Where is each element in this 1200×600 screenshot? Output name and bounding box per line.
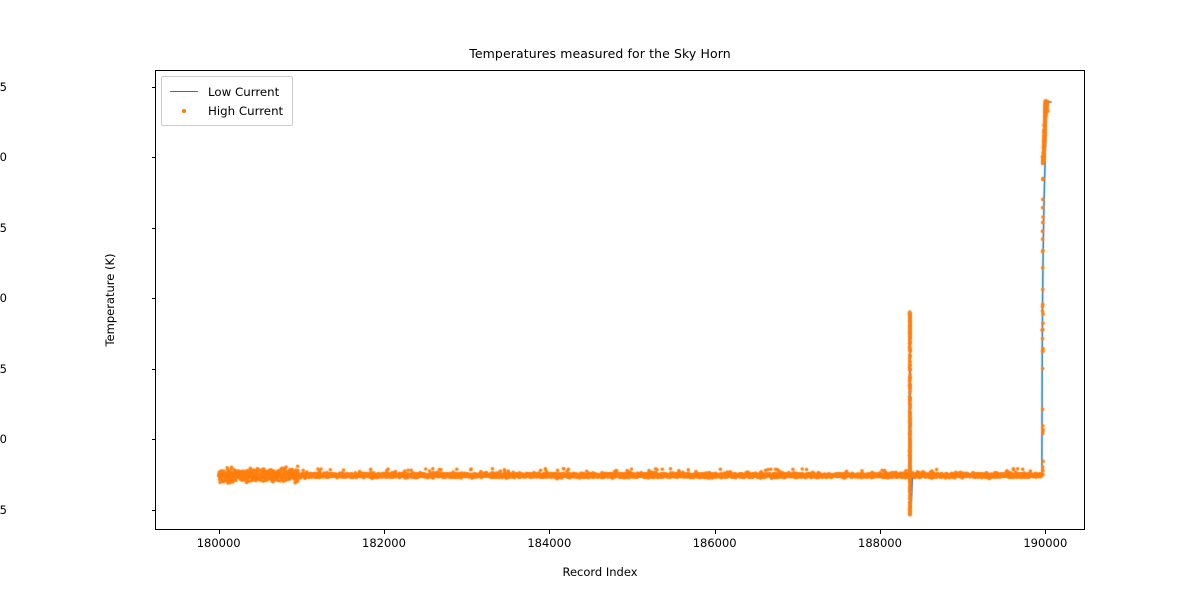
y-axis-label: Temperature (K) [103,253,117,346]
y-tick-mark [152,87,156,88]
x-tick-label: 180000 [197,536,241,550]
y-tick-label: 3.5 [0,362,7,376]
x-tick-mark [880,530,881,534]
x-tick-label: 188000 [858,536,902,550]
legend-label: Low Current [208,85,279,99]
x-tick-mark [384,530,385,534]
x-tick-mark [1045,530,1046,534]
y-tick-label: 3.0 [0,432,7,446]
chart-title: Temperatures measured for the Sky Horn [0,46,1200,61]
y-tick-mark [152,157,156,158]
x-tick-label: 184000 [527,536,571,550]
dot-swatch-icon [169,105,199,117]
x-tick-label: 190000 [1023,536,1067,550]
data-canvas [156,71,1085,530]
x-tick-label: 186000 [693,536,737,550]
y-tick-label: 4.5 [0,221,7,235]
x-tick-mark [549,530,550,534]
x-tick-mark [219,530,220,534]
legend-label: High Current [208,104,283,118]
y-tick-mark [152,510,156,511]
legend-item-high-current[interactable]: High Current [169,101,283,120]
legend-item-low-current[interactable]: Low Current [169,82,283,101]
x-tick-label: 182000 [362,536,406,550]
y-tick-mark [152,298,156,299]
x-axis-label: Record Index [0,565,1200,579]
line-swatch-icon [169,86,199,98]
y-tick-label: 5.5 [0,80,7,94]
y-tick-mark [152,369,156,370]
plot-area [155,70,1085,530]
y-tick-mark [152,228,156,229]
matplotlib-figure: Temperatures measured for the Sky Horn T… [0,0,1200,600]
chart-legend: Low Current High Current [161,76,293,126]
y-tick-label: 4.0 [0,291,7,305]
x-tick-mark [715,530,716,534]
y-tick-mark [152,439,156,440]
y-tick-label: 2.5 [0,503,7,517]
y-tick-label: 5.0 [0,150,7,164]
